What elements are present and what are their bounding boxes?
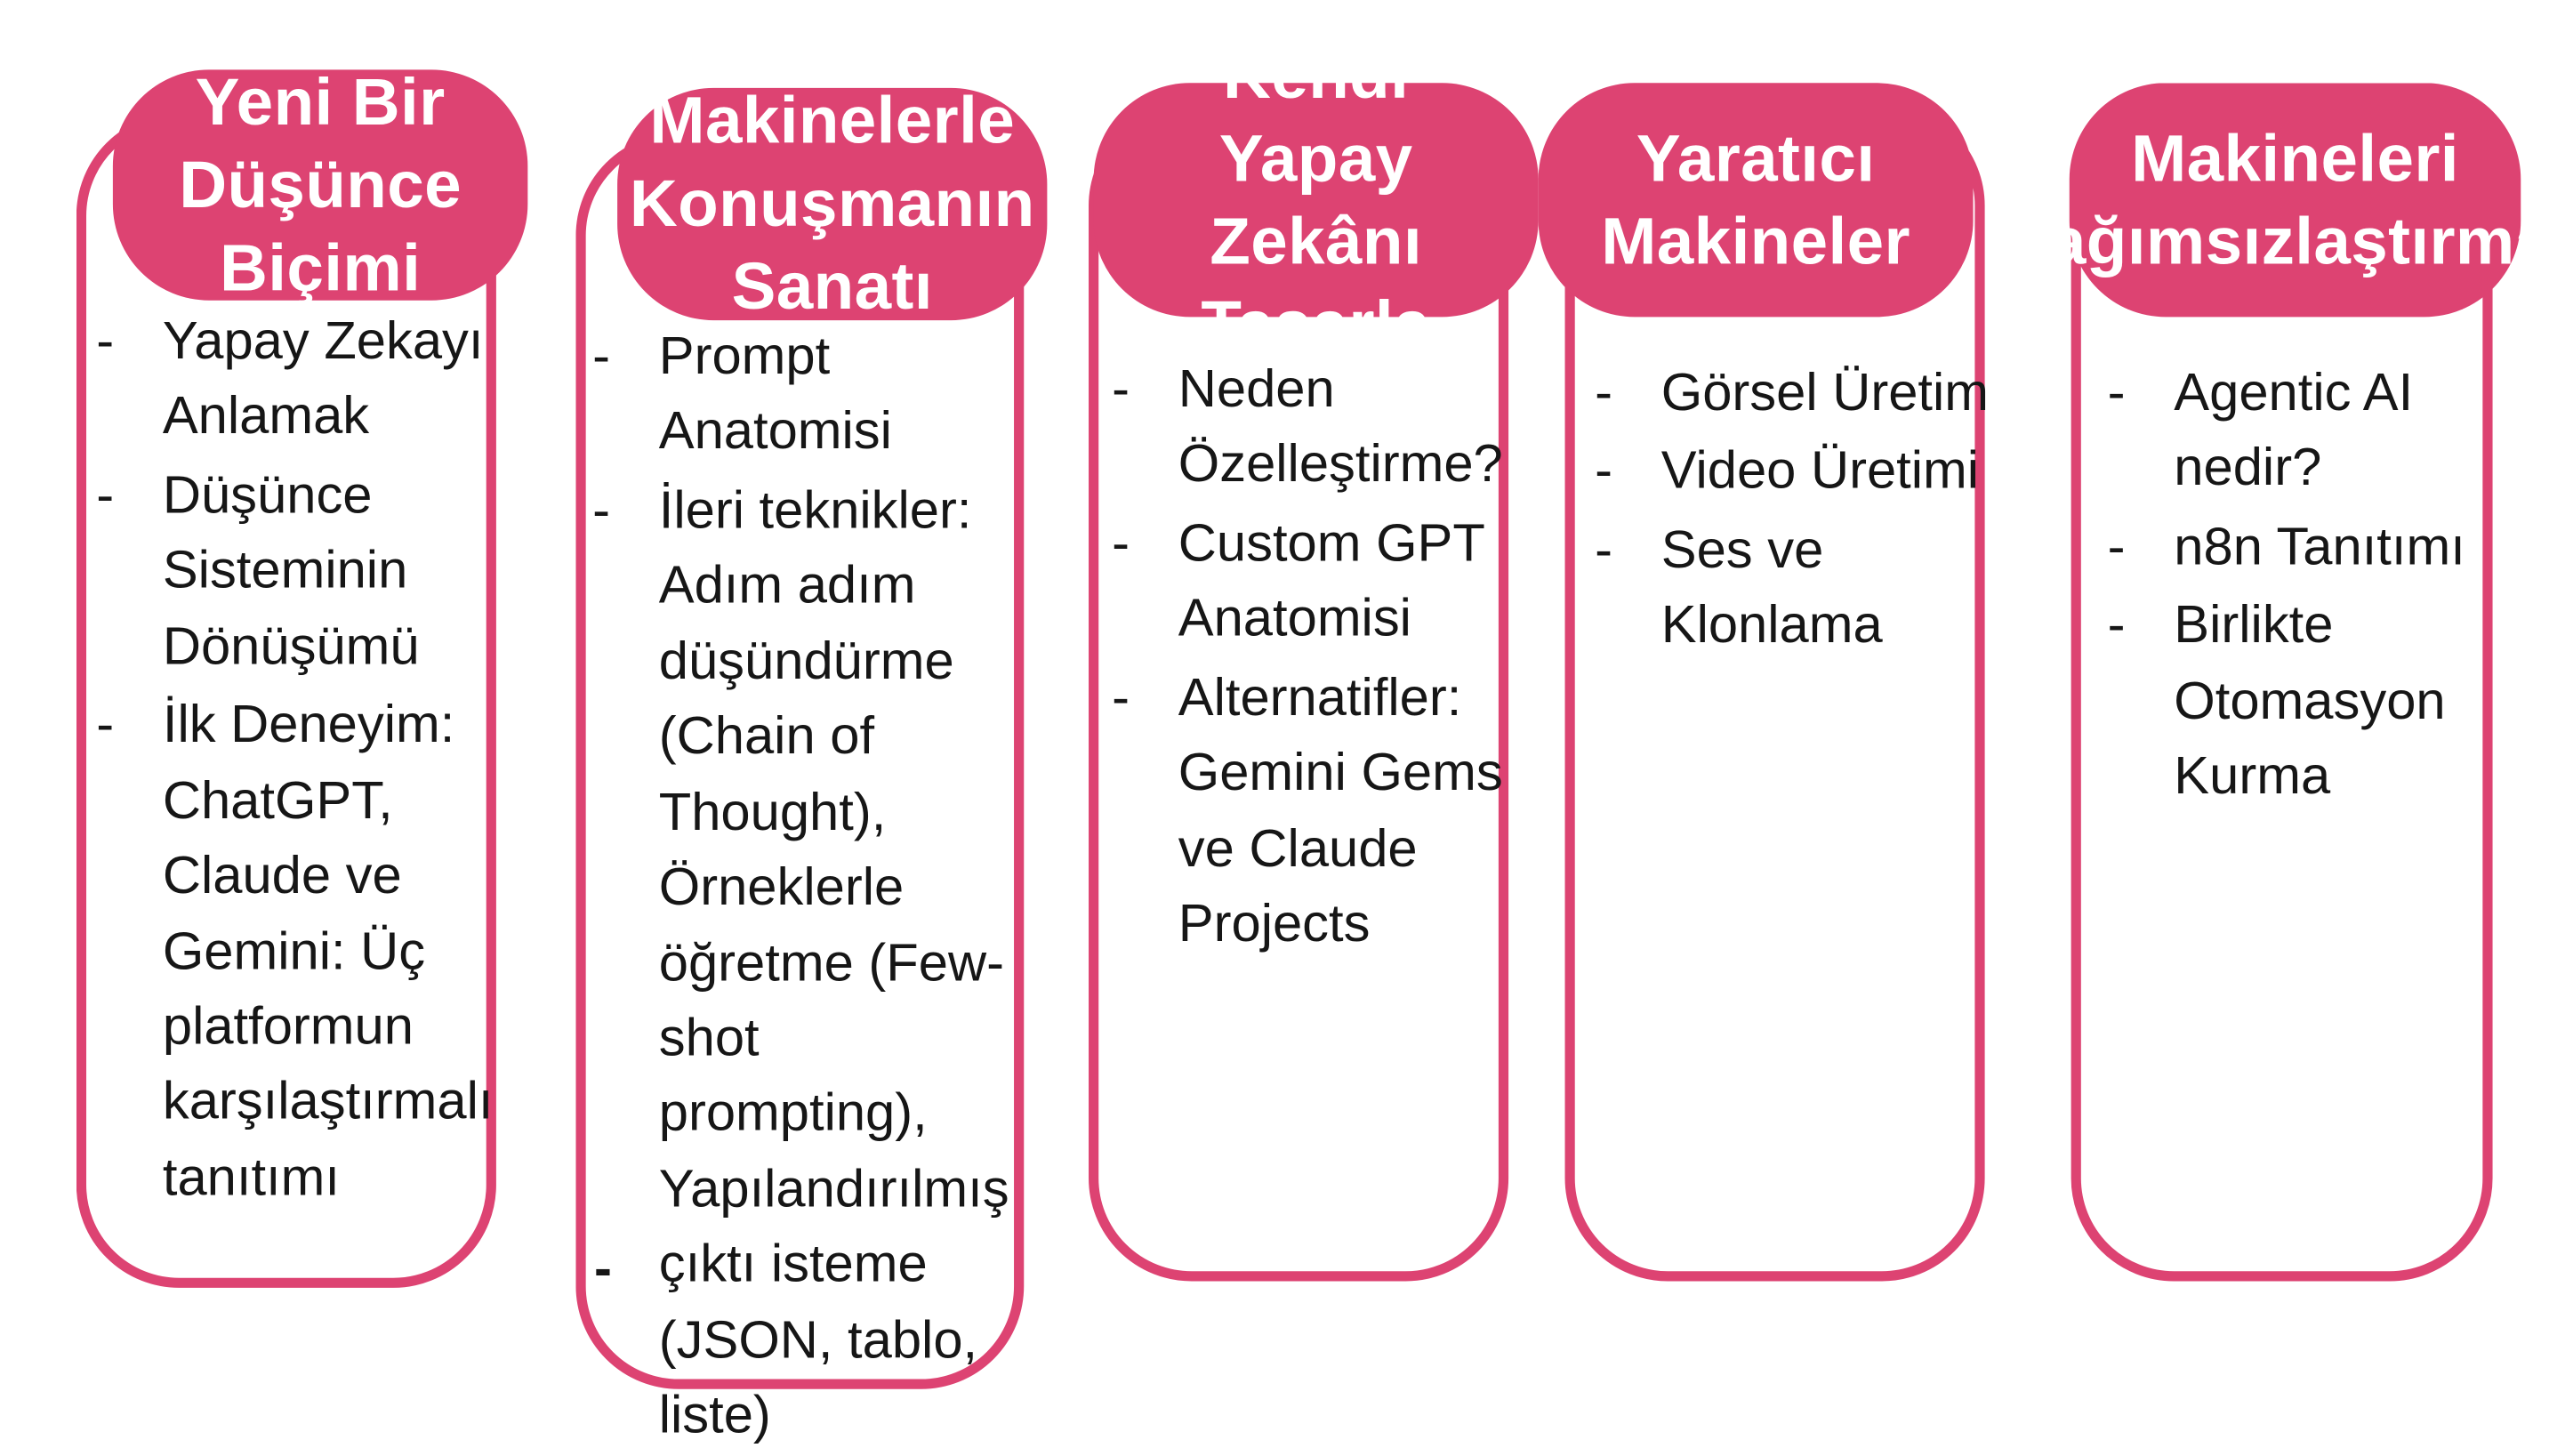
list-item-text: İlk Deneyim: ChatGPT, Claude ve Gemini: … [163,688,508,1215]
bullet-dash-icon: - [592,318,610,394]
bullet-dash-icon: - [1112,352,1130,428]
list-item-text: Ses ve Klonlama [1661,512,1990,664]
card-4-body: - Görsel Üretim - Video Üretimi - Ses ve… [1591,355,1990,666]
list-item-text: Alternatifler: Gemini Gems ve Claude Pro… [1178,660,1527,961]
list-item: - Görsel Üretim [1591,355,1990,430]
bullet-dash-icon: - [1112,506,1130,582]
card-5-header: Makineleri Bağımsızlaştırmak [2070,83,2521,317]
list-item-text: Agentic AI nedir? [2174,355,2509,506]
bullet-dash-icon: - [1595,355,1612,430]
bullet-dash-icon: - [96,303,114,379]
card-3-title: Kendi Yapay Zekânı Tasarla [1123,34,1508,366]
list-item: - n8n Tanıtımı [2104,510,2509,585]
card-3-bullet-list: - Neden Özelleştirme? - Custom GPT Anato… [1108,352,1526,962]
list-item: - Prompt Anatomisi [589,318,1037,470]
list-item-text: Görsel Üretim [1661,355,1990,430]
list-item: - Agentic AI nedir? [2104,355,2509,506]
list-item: - İleri teknikler: Adım adım düşündürme … [589,473,1037,1453]
bullet-dash-icon: - [1595,434,1612,510]
list-item: - Yapay Zekayı Anlamak [92,303,507,454]
card-2-title: Makinelerle Konuşmanın Sanatı [630,80,1035,329]
card-2-bullet-list: - Prompt Anatomisi - İleri teknikler: Ad… [589,318,1037,1452]
list-item-text: Birlikte Otomasyon Kurma [2174,588,2509,814]
list-item-text: Custom GPT Anatomisi [1178,506,1527,657]
card-4-header: Yaratıcı Makineler [1539,83,1974,317]
card-1-header: Yeni Bir Düşünce Biçimi [113,69,527,300]
list-item-text: Video Üretimi [1661,434,1990,510]
list-item-text: n8n Tanıtımı [2174,510,2509,585]
card-1-body: - Yapay Zekayı Anlamak - Düşünce Sistemi… [92,303,507,1219]
bullet-dash-icon: - [2108,588,2126,664]
card-5-body: - Agentic AI nedir? - n8n Tanıtımı - Bir… [2104,355,2509,817]
list-item: - Düşünce Sisteminin Dönüşümü [92,458,507,684]
list-item-text: Neden Özelleştirme? [1178,352,1527,503]
card-4-title: Yaratıcı Makineler [1601,117,1910,284]
slide-canvas: Yeni Bir Düşünce Biçimi - Yapay Zekayı A… [0,0,2549,774]
bullet-dash-icon: - [2108,510,2126,585]
list-item: - Neden Özelleştirme? [1108,352,1526,503]
list-item-text: Düşünce Sisteminin Dönüşümü [163,458,508,684]
card-4-bullet-list: - Görsel Üretim - Video Üretimi - Ses ve… [1591,355,1990,664]
list-item-text: İleri teknikler: Adım adım düşündürme (C… [659,473,1037,1453]
card-3-body: - Neden Özelleştirme? - Custom GPT Anato… [1108,352,1526,965]
card-2-empty-bullet-dash-icon: - [594,1242,612,1295]
bullet-dash-icon: - [592,473,610,549]
card-3-header: Kendi Yapay Zekânı Tasarla [1094,83,1539,317]
list-item: - Video Üretimi [1591,434,1990,510]
list-item: - Ses ve Klonlama [1591,512,1990,664]
card-1-bullet-list: - Yapay Zekayı Anlamak - Düşünce Sistemi… [92,303,507,1215]
card-5-title: Makineleri Bağımsızlaştırmak [2001,117,2549,284]
list-item: - Birlikte Otomasyon Kurma [2104,588,2509,814]
card-5-bullet-list: - Agentic AI nedir? - n8n Tanıtımı - Bir… [2104,355,2509,814]
list-item: - İlk Deneyim: ChatGPT, Claude ve Gemini… [92,688,507,1215]
list-item-text: Yapay Zekayı Anlamak [163,303,508,454]
bullet-dash-icon: - [96,688,114,763]
list-item: - Alternatifler: Gemini Gems ve Claude P… [1108,660,1526,961]
card-2-body: - Prompt Anatomisi - İleri teknikler: Ad… [589,318,1037,1456]
bullet-dash-icon: - [2108,355,2126,430]
bullet-dash-icon: - [1595,512,1612,588]
list-item: - Custom GPT Anatomisi [1108,506,1526,657]
list-item-text: Prompt Anatomisi [659,318,1037,470]
card-1-title: Yeni Bir Düşünce Biçimi [142,60,497,310]
bullet-dash-icon: - [1112,660,1130,736]
card-2-header: Makinelerle Konuşmanın Sanatı [617,88,1047,320]
bullet-dash-icon: - [96,458,114,534]
